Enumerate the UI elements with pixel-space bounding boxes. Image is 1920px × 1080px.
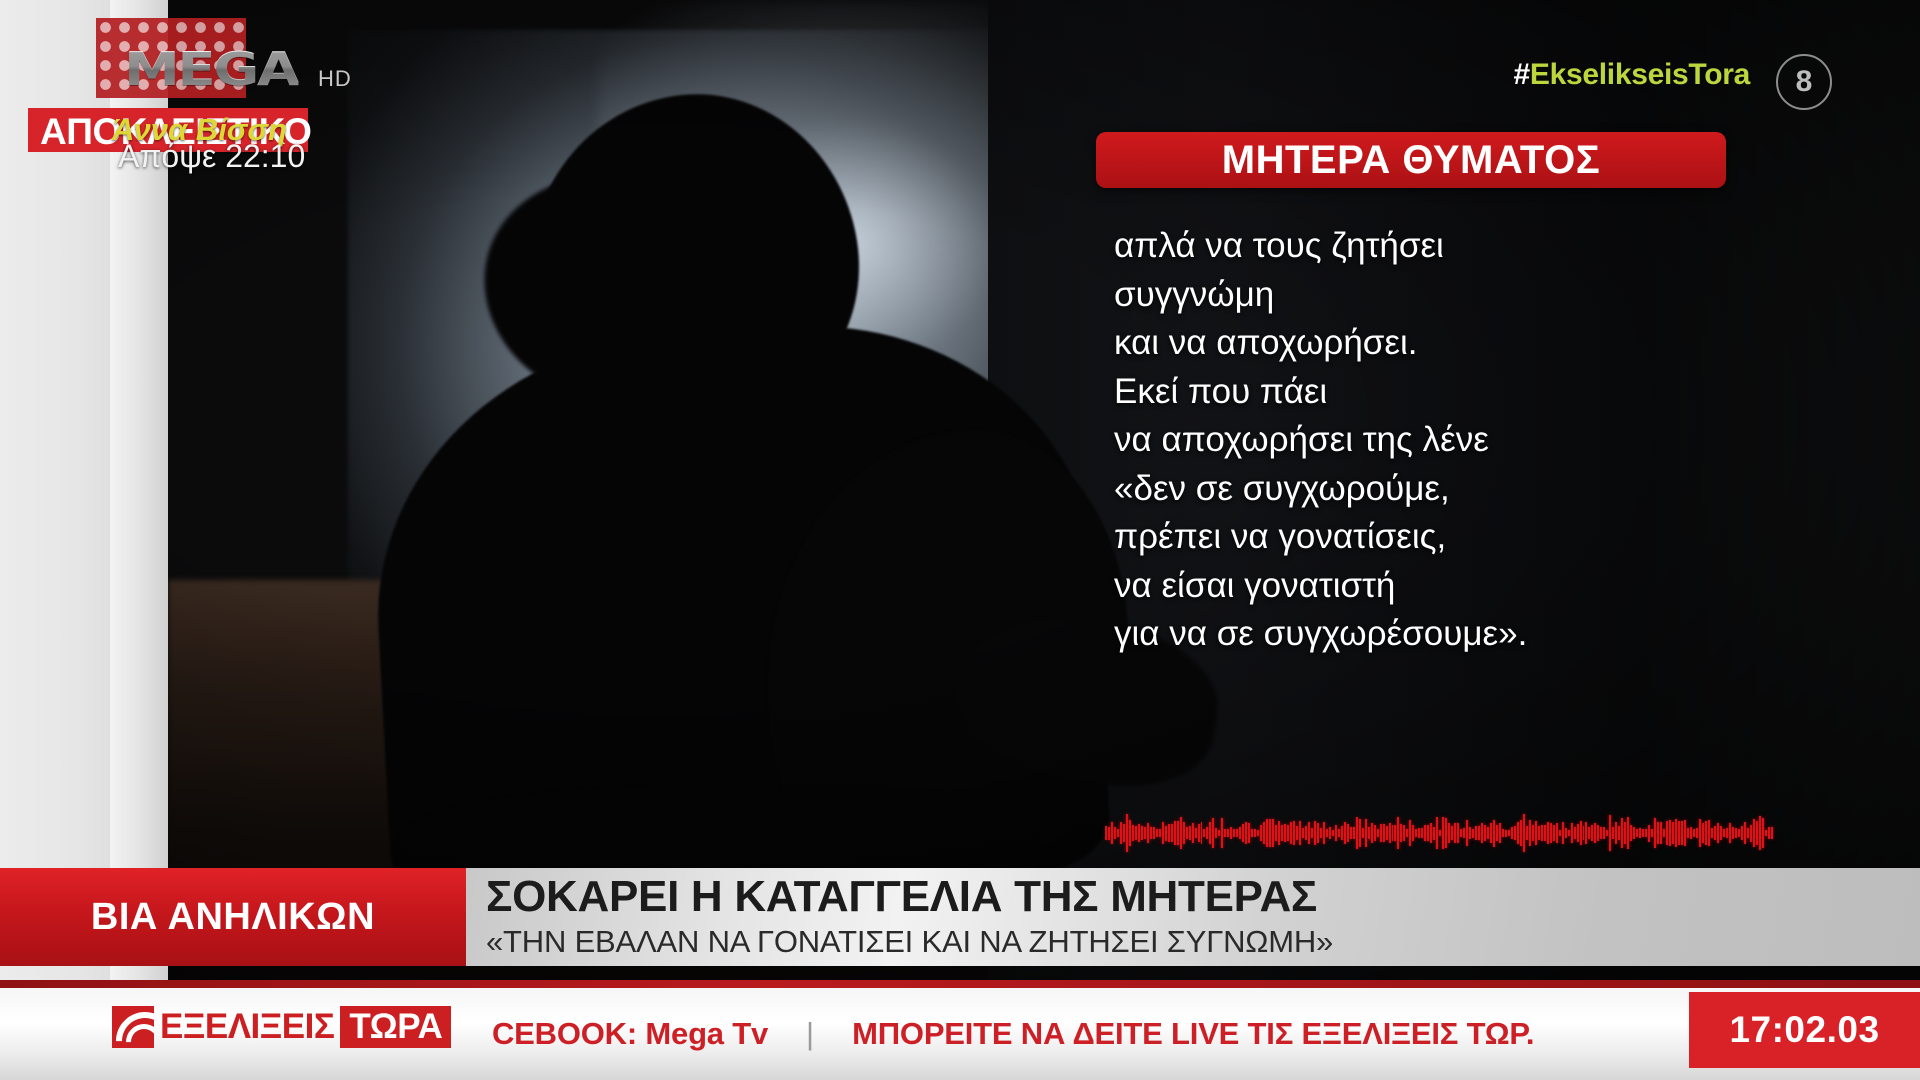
waveform-bar — [1111, 822, 1113, 844]
waveform-bar — [1120, 822, 1122, 844]
waveform-bar — [1487, 827, 1489, 840]
waveform-bar — [1132, 825, 1134, 841]
ticker-item-1: CEBOOK: Mega Tv — [492, 1016, 768, 1052]
waveform-bar — [1362, 828, 1364, 838]
waveform-bar — [1580, 821, 1582, 845]
waveform-bar — [1439, 830, 1441, 836]
lower-third-headline-panel: ΣΟΚΑΡΕΙ Η ΚΑΤΑΓΓΕΛΙΑ ΤΗΣ ΜΗΤΕΡΑΣ «ΤΗΝ ΕΒ… — [466, 868, 1920, 966]
waveform-bar — [1421, 828, 1423, 838]
logo-wordmark: MEGA — [124, 42, 298, 96]
waveform-bar — [1541, 825, 1543, 840]
waveform-bar — [1771, 827, 1773, 838]
waveform-bar — [1299, 821, 1301, 846]
waveform-bar — [1741, 826, 1743, 841]
waveform-bar — [1765, 830, 1767, 837]
waveform-bar — [1427, 825, 1429, 841]
waveform-bar — [1177, 821, 1179, 846]
waveform-bar — [1484, 825, 1486, 841]
waveform-bar — [1612, 827, 1614, 839]
waveform-bar — [1135, 826, 1137, 839]
waveform-bar — [1317, 823, 1319, 844]
lower-third-headline: ΣΟΚΑΡΕΙ Η ΚΑΤΑΓΓΕΛΙΑ ΤΗΣ ΜΗΤΕΡΑΣ — [486, 872, 1317, 922]
waveform-bar — [1538, 826, 1540, 841]
lower-third: ΒΙΑ ΑΝΗΛΙΚΩΝ ΣΟΚΑΡΕΙ Η ΚΑΤΑΓΓΕΛΙΑ ΤΗΣ ΜΗ… — [0, 868, 1920, 988]
waveform-bar — [1690, 827, 1692, 838]
waveform-bar — [1663, 829, 1665, 837]
ticker-brand-word: ΕΞΕΛΙΞΕΙΣ — [160, 1007, 334, 1047]
waveform-bar — [1594, 823, 1596, 843]
waveform-bar — [1278, 821, 1280, 845]
ticker-items: CEBOOK: Mega Tv | ΜΠΟΡΕΙΤΕ ΝΑ ΔΕΙΤΕ LIVE… — [492, 1010, 1620, 1058]
waveform-bar — [1287, 825, 1289, 842]
waveform-bar — [1347, 824, 1349, 843]
waveform-bar — [1454, 823, 1456, 842]
waveform-bar — [1693, 829, 1695, 837]
waveform-bar — [1239, 827, 1241, 840]
waveform-bar — [1430, 823, 1432, 842]
waveform-bar — [1621, 818, 1623, 847]
waveform-bar — [1195, 828, 1197, 839]
waveform-bar — [1380, 824, 1382, 843]
waveform-bar — [1254, 829, 1256, 837]
waveform-bar — [1338, 829, 1340, 837]
waveform-bar — [1302, 828, 1304, 839]
waveform-bar — [1293, 821, 1295, 846]
waveform-bar — [1162, 822, 1164, 844]
waveform-bar — [1577, 824, 1579, 842]
waveform-bar — [1257, 830, 1259, 837]
waveform-bar — [1233, 829, 1235, 838]
quote-line: να αποχωρήσει της λένε — [1114, 416, 1814, 465]
waveform-bar — [1129, 820, 1131, 847]
waveform-bar — [1198, 824, 1200, 842]
waveform-bar — [1514, 826, 1516, 841]
waveform-bar — [1368, 827, 1370, 839]
waveform-bar — [1502, 829, 1504, 837]
waveform-bar — [1114, 827, 1116, 839]
waveform-bar — [1215, 828, 1217, 839]
waveform-bar — [1687, 828, 1689, 838]
waveform-bar — [1397, 817, 1399, 849]
waveform-bar — [1224, 829, 1226, 836]
waveform-bar — [1296, 826, 1298, 840]
waveform-bar — [1639, 828, 1641, 838]
lower-third-subheadline: «ΤΗΝ ΕΒΑΛΑΝ ΝΑ ΓΟΝΑΤΙΣΕΙ ΚΑΙ ΝΑ ΖΗΤΗΣΕΙ … — [486, 924, 1333, 960]
waveform-bar — [1189, 826, 1191, 839]
waveform-bar — [1350, 827, 1352, 839]
waveform-bar — [1675, 819, 1677, 846]
waveform-bar — [1221, 818, 1223, 848]
waveform-bar — [1284, 824, 1286, 841]
waveform-bar — [1714, 826, 1716, 839]
waveform-bar — [1227, 829, 1229, 837]
waveform-bar — [1365, 819, 1367, 848]
waveform-bar — [1209, 822, 1211, 844]
waveform-bar — [1544, 825, 1546, 841]
waveform-bar — [1597, 825, 1599, 841]
waveform-bar — [1475, 826, 1477, 839]
quote-line: για να σε συγχωρέσουμε». — [1114, 610, 1814, 659]
waveform-bar — [1478, 826, 1480, 840]
waveform-bar — [1744, 822, 1746, 844]
waveform-bar — [1344, 822, 1346, 845]
waveform-bar — [1550, 823, 1552, 843]
waveform-bar — [1436, 817, 1438, 849]
waveform-bar — [1377, 829, 1379, 837]
waveform-bar — [1699, 819, 1701, 846]
waveform-bar — [1242, 824, 1244, 842]
waveform-bar — [1768, 827, 1770, 840]
waveform-bar — [1520, 820, 1522, 845]
waveform-bar — [1359, 819, 1361, 847]
waveform-bar — [1756, 821, 1758, 844]
waveform-bar — [1585, 822, 1587, 844]
waveform-bar — [1147, 823, 1149, 843]
waveform-bar — [1314, 821, 1316, 844]
waveform-bar — [1236, 829, 1238, 836]
waveform-bar — [1335, 825, 1337, 840]
waveform-bar — [1472, 829, 1474, 838]
waveform-bar — [1588, 827, 1590, 839]
waveform-bar — [1448, 823, 1450, 843]
ticker-item-2: ΜΠΟΡΕΙΤΕ ΝΑ ΔΕΙΤΕ LIVE ΤΙΣ ΕΞΕΛΙΞΕΙΣ ΤΩΡ… — [852, 1016, 1534, 1052]
waveform-bar — [1141, 826, 1143, 839]
waveform-bar — [1547, 822, 1549, 844]
waveform-bar — [1517, 822, 1519, 844]
waveform-bar — [1753, 819, 1755, 848]
waveform-bar — [1260, 825, 1262, 841]
quote-line: να είσαι γονατιστή — [1114, 562, 1814, 611]
waveform-bar — [1263, 822, 1265, 843]
waveform-bar — [1403, 825, 1405, 840]
waveform-bar — [1186, 827, 1188, 839]
quote-line: Εκεί που πάει — [1114, 368, 1814, 417]
waveform-bar — [1353, 827, 1355, 839]
waveform-bar — [1469, 827, 1471, 840]
waveform-bar — [1738, 829, 1740, 837]
waveform-bar — [1600, 827, 1602, 839]
channel-logo: MEGA HD — [96, 18, 396, 98]
waveform-bar — [1648, 825, 1650, 842]
waveform-bar — [1168, 824, 1170, 841]
waveform-bar — [1457, 823, 1459, 842]
waveform-bar — [1636, 829, 1638, 838]
waveform-bar — [1123, 824, 1125, 843]
waveform-bar — [1412, 825, 1414, 841]
waveform-bar — [1311, 828, 1313, 839]
waveform-bar — [1496, 825, 1498, 841]
waveform-bar — [1424, 825, 1426, 841]
waveform-bar — [1183, 822, 1185, 844]
waveform-bar — [1571, 823, 1573, 843]
ticker-clock-time: 17:02.03 — [1729, 1009, 1879, 1051]
ticker-clock: 17:02.03 — [1689, 992, 1920, 1068]
waveform-bar — [1460, 829, 1462, 837]
waveform-bar — [1245, 822, 1247, 845]
waveform-bar — [1463, 828, 1465, 838]
quote-line: και να αποχωρήσει. — [1114, 319, 1814, 368]
waveform-bar — [1165, 826, 1167, 841]
waveform-bar — [1651, 829, 1653, 837]
waveform-bar — [1105, 826, 1107, 840]
waveform-bar — [1732, 827, 1734, 839]
lower-third-category-label: ΒΙΑ ΑΝΗΛΙΚΩΝ — [91, 896, 375, 939]
waveform-bar — [1305, 826, 1307, 841]
waveform-bar — [1627, 817, 1629, 849]
waveform-bar — [1750, 825, 1752, 842]
waveform-bar — [1720, 826, 1722, 840]
waveform-bar — [1529, 820, 1531, 846]
waveform-bar — [1445, 818, 1447, 848]
quote-line: «δεν σε συγχωρούμε, — [1114, 465, 1814, 514]
waveform-bar — [1212, 818, 1214, 848]
waveform-bar — [1323, 822, 1325, 844]
waveform-bar — [1723, 829, 1725, 837]
waveform-bar — [1603, 827, 1605, 839]
waveform-bar — [1684, 820, 1686, 845]
waveform-bar — [1406, 829, 1408, 836]
waveform-bar — [1654, 818, 1656, 849]
waveform-bar — [1606, 830, 1608, 836]
waveform-bar — [1389, 823, 1391, 843]
waveform-bar — [1433, 827, 1435, 840]
waveform-bar — [1523, 814, 1525, 853]
topic-pill: ΜΗΤΕΡΑ ΘΥΜΑΤΟΣ — [1096, 132, 1726, 188]
waveform-bar — [1535, 821, 1537, 846]
quote-block: απλά να τους ζητήσεισυγγνώμηκαι να αποχω… — [1114, 222, 1814, 659]
hash-symbol-icon: # — [1514, 58, 1530, 91]
quote-line: συγγνώμη — [1114, 271, 1814, 320]
waveform-bar — [1174, 821, 1176, 846]
waveform-bar — [1180, 817, 1182, 849]
waveform-bar — [1248, 823, 1250, 843]
waveform-bar — [1156, 829, 1158, 838]
audio-waveform — [1105, 812, 1775, 854]
waveform-bar — [1418, 828, 1420, 837]
quote-line: πρέπει να γονατίσεις, — [1114, 513, 1814, 562]
ticker-brand-now: ΤΩΡΑ — [340, 1006, 451, 1048]
waveform-bar — [1490, 823, 1492, 844]
waveform-bar — [1275, 825, 1277, 841]
lower-third-category: ΒΙΑ ΑΝΗΛΙΚΩΝ — [0, 868, 466, 966]
waveform-bar — [1508, 830, 1510, 836]
waveform-bar — [1645, 829, 1647, 836]
promo-airtime: Απόψε 22:10 — [118, 138, 305, 175]
waveform-bar — [1144, 827, 1146, 840]
waveform-bar — [1409, 820, 1411, 846]
waveform-bar — [1171, 824, 1173, 842]
waveform-bar — [1657, 822, 1659, 844]
waveform-bar — [1356, 817, 1358, 850]
quote-line: απλά να τους ζητήσει — [1114, 222, 1814, 271]
waveform-bar — [1192, 823, 1194, 843]
waveform-bar — [1726, 828, 1728, 839]
waveform-bar — [1615, 822, 1617, 844]
ticker-brand: ΕΞΕΛΙΞΕΙΣ ΤΩΡΑ — [112, 1006, 451, 1048]
waveform-bar — [1511, 827, 1513, 839]
waveform-bar — [1383, 824, 1385, 842]
waveform-bar — [1126, 814, 1128, 852]
waveform-bar — [1574, 827, 1576, 839]
waveform-bar — [1553, 825, 1555, 841]
waveform-bar — [1230, 827, 1232, 839]
news-ticker: ΕΞΕΛΙΞΕΙΣ ΤΩΡΑ CEBOOK: Mega Tv | ΜΠΟΡΕΙΤ… — [0, 988, 1920, 1080]
waveform-bar — [1556, 823, 1558, 843]
waveform-bar — [1138, 824, 1140, 841]
waveform-bar — [1329, 827, 1331, 839]
waveform-bar — [1281, 825, 1283, 841]
topic-pill-label: ΜΗΤΕΡΑ ΘΥΜΑΤΟΣ — [1222, 138, 1600, 183]
waveform-bar — [1272, 819, 1274, 847]
signal-wave-icon — [112, 1006, 154, 1048]
waveform-bar — [1705, 821, 1707, 845]
waveform-bar — [1526, 826, 1528, 839]
waveform-bar — [1711, 828, 1713, 839]
waveform-bar — [1386, 826, 1388, 841]
hashtag-text: EkselikseisTora — [1530, 58, 1750, 91]
waveform-bar — [1762, 818, 1764, 847]
waveform-bar — [1735, 828, 1737, 838]
waveform-bar — [1565, 828, 1567, 838]
channel-number-badge: 8 — [1776, 54, 1832, 110]
waveform-bar — [1681, 821, 1683, 845]
waveform-bar — [1371, 823, 1373, 843]
logo-hd-badge: HD — [318, 66, 352, 92]
waveform-bar — [1442, 817, 1444, 848]
waveform-bar — [1717, 823, 1719, 844]
waveform-bar — [1153, 827, 1155, 840]
waveform-bar — [1568, 830, 1570, 836]
waveform-bar — [1562, 822, 1564, 844]
waveform-bar — [1696, 828, 1698, 837]
waveform-bar — [1341, 826, 1343, 841]
waveform-bar — [1108, 827, 1110, 840]
waveform-bar — [1308, 822, 1310, 843]
ticker-separator: | — [806, 1016, 814, 1052]
waveform-bar — [1505, 830, 1507, 837]
waveform-bar — [1532, 825, 1534, 841]
waveform-bar — [1481, 823, 1483, 843]
waveform-bar — [1702, 823, 1704, 843]
waveform-bar — [1618, 826, 1620, 840]
waveform-bar — [1159, 829, 1161, 837]
waveform-bar — [1269, 819, 1271, 847]
waveform-bar — [1206, 827, 1208, 840]
waveform-bar — [1660, 822, 1662, 843]
waveform-bar — [1759, 816, 1761, 850]
waveform-bar — [1708, 820, 1710, 846]
waveform-bar — [1678, 821, 1680, 844]
waveform-bar — [1320, 828, 1322, 838]
waveform-bar — [1251, 829, 1253, 837]
waveform-bar — [1203, 829, 1205, 838]
waveform-bar — [1392, 825, 1394, 841]
hashtag-label: #EkselikseisTora — [1514, 58, 1750, 92]
waveform-bar — [1642, 829, 1644, 837]
waveform-bar — [1117, 829, 1119, 837]
broadcast-screen: MEGA HD ΑΠΟΚΛΕΙΣΤΙΚΟ Άννα Βίσση Απόψε 22… — [0, 0, 1920, 1080]
waveform-bar — [1266, 819, 1268, 846]
waveform-bar — [1326, 829, 1328, 838]
waveform-bar — [1201, 822, 1203, 845]
waveform-bar — [1669, 820, 1671, 846]
waveform-bar — [1218, 830, 1220, 837]
waveform-bar — [1609, 815, 1611, 850]
waveform-bar — [1633, 827, 1635, 840]
waveform-bar — [1493, 820, 1495, 847]
waveform-bar — [1729, 823, 1731, 842]
waveform-bar — [1666, 821, 1668, 845]
waveform-bar — [1374, 825, 1376, 841]
waveform-bar — [1583, 826, 1585, 840]
waveform-bar — [1630, 825, 1632, 841]
waveform-bar — [1559, 830, 1561, 836]
waveform-bar — [1466, 820, 1468, 845]
waveform-bar — [1591, 825, 1593, 842]
waveform-bar — [1415, 829, 1417, 837]
waveform-bar — [1290, 822, 1292, 844]
waveform-bar — [1747, 828, 1749, 839]
waveform-bar — [1672, 822, 1674, 843]
waveform-bar — [1400, 824, 1402, 842]
waveform-bar — [1332, 830, 1334, 837]
waveform-bar — [1624, 822, 1626, 844]
waveform-bar — [1499, 823, 1501, 844]
waveform-bar — [1451, 826, 1453, 841]
waveform-bar — [1150, 827, 1152, 839]
waveform-bar — [1394, 825, 1396, 840]
